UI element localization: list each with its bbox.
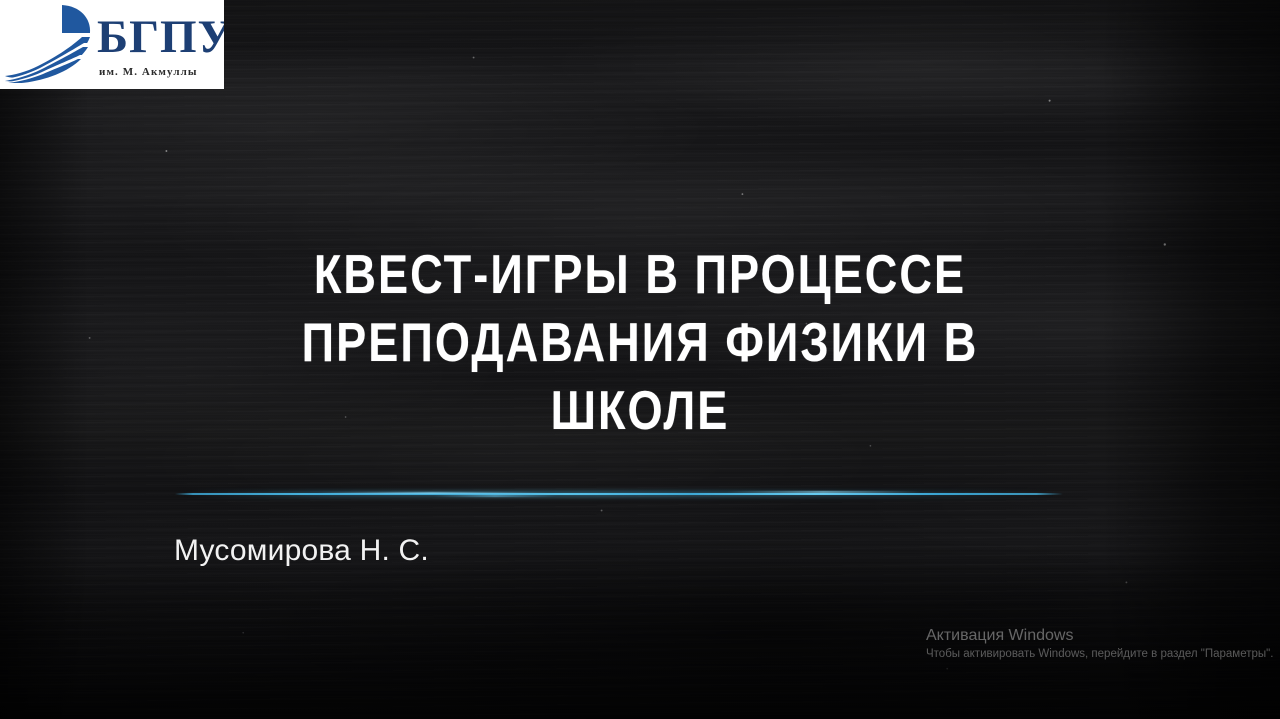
logo-subtext: им. М. Акмуллы bbox=[99, 66, 224, 78]
divider-fragment-3 bbox=[726, 491, 921, 493]
university-logo: БГПУ им. М. Акмуллы bbox=[0, 0, 224, 89]
page-title: КВЕСТ-ИГРЫ В ПРОЦЕССЕ ПРЕПОДАВАНИЯ ФИЗИК… bbox=[246, 240, 1033, 444]
divider-fragment-1 bbox=[317, 492, 548, 494]
presentation-slide: БГПУ им. М. Акмуллы КВЕСТ-ИГРЫ В ПРОЦЕСС… bbox=[0, 0, 1280, 719]
divider-stroke bbox=[175, 493, 1063, 495]
subtitle-author: Мусомирова Н. С. bbox=[174, 534, 429, 568]
logo-wordmark: БГПУ bbox=[97, 12, 224, 62]
bgpu-wave-emblem-icon bbox=[4, 3, 96, 83]
divider-fragment-2 bbox=[433, 495, 557, 497]
chalk-divider bbox=[175, 490, 1063, 499]
